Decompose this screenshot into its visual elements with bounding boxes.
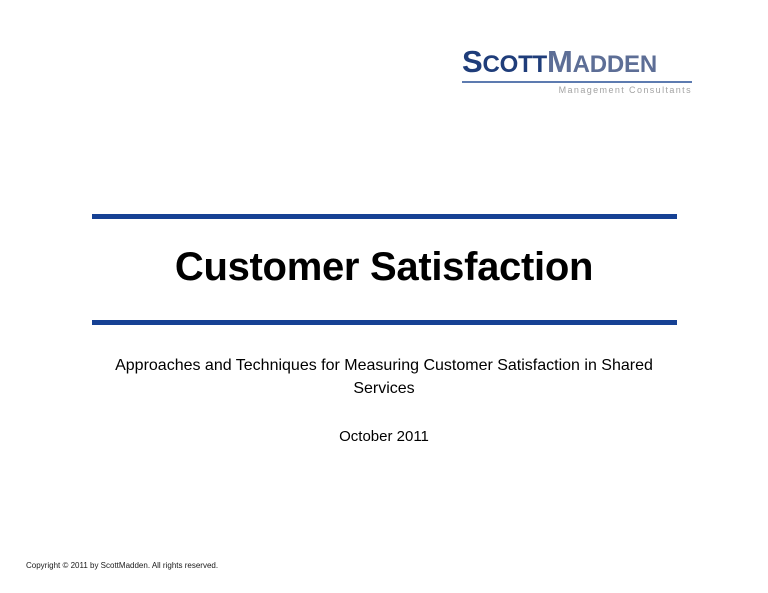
- title-rule-bottom: [92, 320, 677, 325]
- logo-scott-smallcaps: COTT: [482, 51, 547, 78]
- logo-madden-text: MADDEN: [547, 44, 657, 79]
- logo-scott-capital: S: [462, 44, 482, 79]
- title-slide: SCOTTMADDEN Management Consultants Custo…: [0, 0, 768, 593]
- title-rule-top: [92, 214, 677, 219]
- copyright-notice: Copyright © 2011 by ScottMadden. All rig…: [26, 561, 218, 570]
- logo-tagline: Management Consultants: [462, 85, 692, 95]
- slide-subtitle: Approaches and Techniques for Measuring …: [84, 354, 684, 400]
- slide-date: October 2011: [84, 428, 684, 445]
- logo-scott-text: SCOTT: [462, 44, 547, 79]
- scottmadden-logo: SCOTTMADDEN Management Consultants: [462, 46, 692, 95]
- logo-underline-rule: [462, 81, 692, 83]
- logo-wordmark: SCOTTMADDEN: [462, 46, 692, 80]
- logo-madden-capital: M: [547, 44, 573, 79]
- page-title: Customer Satisfaction: [0, 244, 768, 290]
- logo-madden-smallcaps: ADDEN: [573, 51, 657, 78]
